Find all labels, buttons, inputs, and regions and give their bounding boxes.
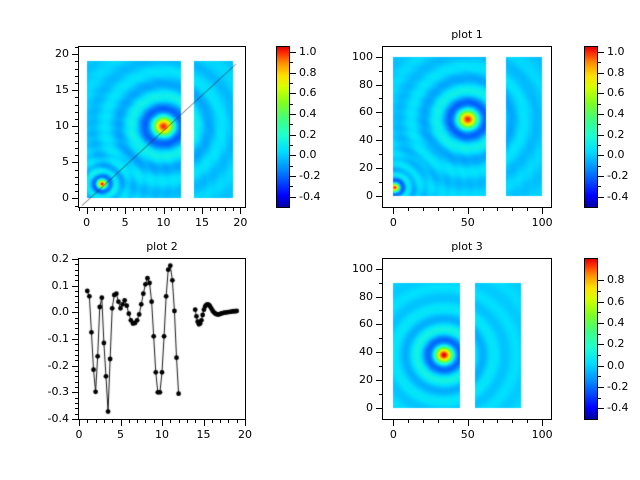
plot-top-left-cbar-tick <box>290 176 296 177</box>
plot-top-left-axes <box>78 46 246 208</box>
plot-top-right-tick <box>379 154 382 155</box>
plot-top-right-cbar-tick-label: 0.6 <box>607 87 640 98</box>
plot-bottom-right-cbar-tick-label: 0.6 <box>607 296 640 307</box>
plot-top-left-tick <box>75 133 78 134</box>
plot-bottom-right-cbar-minor-tick <box>598 398 601 399</box>
plot-top-right-xtick-label: 50 <box>438 217 498 228</box>
plot-top-left-cbar-tick-label: 0.8 <box>299 67 339 78</box>
plot-bottom-right-cbar-tick-label: 0.8 <box>607 274 640 285</box>
plot-top-right-cbar-tick-label: -0.4 <box>607 191 640 202</box>
plot-bottom-right-cbar-tick <box>598 344 604 345</box>
plot-bottom-right-tick <box>393 420 394 426</box>
plot-top-left-tick <box>225 208 226 211</box>
plot-top-right-cbar-minor-tick <box>598 83 601 84</box>
plot-bottom-left-ytick-label: -0.4 <box>9 413 69 424</box>
plot-top-left-cbar-minor-tick <box>290 62 293 63</box>
plot-top-left-tick <box>75 97 78 98</box>
plot-top-right-tick <box>379 98 382 99</box>
plot-bottom-right-tick <box>468 420 469 426</box>
plot-bottom-right-cbar-tick <box>598 302 604 303</box>
plot-top-left-tick <box>72 198 78 199</box>
plot-bottom-left-ytick-label: -0.2 <box>9 360 69 371</box>
plot-bottom-left-tick <box>75 328 78 329</box>
plot-bottom-left-tick <box>75 291 78 292</box>
plot-bottom-right-ytick-label: 40 <box>313 346 373 357</box>
plot-top-right-tick <box>423 208 424 211</box>
plot-top-left-tick <box>72 126 78 127</box>
plot-bottom-right-tick <box>512 420 513 423</box>
plot-bottom-left-tick <box>75 280 78 281</box>
plot-top-right-tick <box>393 208 394 214</box>
figure-canvas: 05101520051015201.00.80.60.40.20.0-0.2-0… <box>0 0 640 480</box>
plot-top-left-cbar-minor-tick <box>290 124 293 125</box>
plot-top-right-tick <box>379 182 382 183</box>
plot-bottom-right-tick <box>379 338 382 339</box>
plot-top-left-tick <box>125 208 126 214</box>
plot-top-right-tick <box>468 208 469 214</box>
plot-bottom-right-tick <box>542 420 543 426</box>
plot-bottom-right-tick <box>453 420 454 423</box>
plot-top-left-tick <box>156 208 157 211</box>
plot-top-left-cbar-tick <box>290 197 296 198</box>
plot-bottom-right-colorbar <box>584 258 598 420</box>
plot-top-left-tick <box>240 208 241 214</box>
plot-bottom-right-xtick-label: 50 <box>438 429 498 440</box>
plot-top-right-xtick-label: 100 <box>512 217 572 228</box>
plot-bottom-left-tick <box>75 355 78 356</box>
plot-bottom-right-tick <box>376 352 382 353</box>
plot-bottom-left-tick <box>75 414 78 415</box>
plot-top-right-cbar-tick <box>598 155 604 156</box>
plot-top-left-tick <box>75 76 78 77</box>
plot-bottom-right-cbar-tick <box>598 408 604 409</box>
plot-bottom-right-ytick-label: 0 <box>313 402 373 413</box>
plot-bottom-left-ytick-label: -0.3 <box>9 386 69 397</box>
plot-bottom-left-tick <box>137 420 138 423</box>
plot-bottom-right-tick <box>379 283 382 284</box>
plot-bottom-right-cbar-minor-tick <box>598 376 601 377</box>
plot-title: plot 3 <box>382 241 552 253</box>
plot-top-left-tick <box>75 61 78 62</box>
plot-bottom-right-tick <box>379 394 382 395</box>
plot-bottom-right-tick <box>376 380 382 381</box>
plot-top-left-ytick-label: 0 <box>9 192 69 203</box>
plot-bottom-right-axes <box>382 258 552 420</box>
plot-bottom-left-tick <box>87 420 88 423</box>
plot-top-right-axes <box>382 46 552 208</box>
plot-title: plot 2 <box>78 241 246 253</box>
plot-top-right-cbar-tick-label: 0.0 <box>607 149 640 160</box>
plot-bottom-left-tick <box>75 371 78 372</box>
plot-bottom-left-tick <box>129 420 130 423</box>
plot-top-right-xtick-label: 0 <box>363 217 423 228</box>
plot-top-left-cbar-minor-tick <box>290 166 293 167</box>
plot-top-left-cbar-minor-tick <box>290 145 293 146</box>
plot-bottom-right-tick <box>483 420 484 423</box>
plot-top-left-tick <box>140 208 141 211</box>
plot-top-left-tick <box>210 208 211 211</box>
plot-bottom-right-cbar-tick-label: 0.2 <box>607 338 640 349</box>
plot-top-right-tick <box>512 208 513 211</box>
plot-top-right-tick <box>376 140 382 141</box>
plot-bottom-left-tick <box>75 408 78 409</box>
plot-bottom-right-tick <box>423 420 424 423</box>
plot-top-left-colorbar-gradient <box>277 47 289 207</box>
plot-top-left-cbar-minor-tick <box>290 83 293 84</box>
plot-bottom-left-tick <box>204 420 205 426</box>
plot-bottom-right-cbar-tick-label: -0.4 <box>607 402 640 413</box>
plot-bottom-right-ytick-label: 60 <box>313 318 373 329</box>
plot-top-right-tick <box>379 71 382 72</box>
plot-top-left-colorbar <box>276 46 290 208</box>
plot-top-left-tick <box>75 83 78 84</box>
plot-top-right-plot-area <box>383 47 551 207</box>
plot-top-right-tick <box>376 196 382 197</box>
plot-top-right-ytick-label: 80 <box>313 79 373 90</box>
plot-top-left-ytick-label: 20 <box>9 48 69 59</box>
plot-bottom-left-tick <box>72 286 78 287</box>
plot-top-left-ytick-label: 15 <box>9 84 69 95</box>
plot-bottom-right-cbar-tick-label: 0.0 <box>607 360 640 371</box>
plot-top-right-ytick-label: 40 <box>313 134 373 145</box>
plot-top-left-cbar-tick <box>290 73 296 74</box>
plot-top-left-tick <box>94 208 95 211</box>
plot-top-right-tick <box>483 208 484 211</box>
plot-top-right-colorbar <box>584 46 598 208</box>
plot-bottom-left-tick <box>75 307 78 308</box>
plot-top-left-tick <box>75 206 78 207</box>
plot-bottom-left-tick <box>75 382 78 383</box>
plot-top-left-tick <box>75 47 78 48</box>
plot-top-left-tick <box>72 54 78 55</box>
plot-top-left-tick <box>75 148 78 149</box>
plot-bottom-right-cbar-minor-tick <box>598 334 601 335</box>
plot-top-right-cbar-tick <box>598 73 604 74</box>
plot-top-right-cbar-tick-label: 0.8 <box>607 67 640 78</box>
plot-bottom-left-tick <box>72 339 78 340</box>
plot-top-right-cbar-minor-tick <box>598 124 601 125</box>
plot-top-left-tick <box>75 119 78 120</box>
plot-top-left-cbar-tick <box>290 93 296 94</box>
plot-top-left-cbar-minor-tick <box>290 186 293 187</box>
plot-top-left-tick <box>75 177 78 178</box>
plot-bottom-left-tick <box>75 387 78 388</box>
plot-bottom-right-cbar-tick <box>598 387 604 388</box>
plot-top-right-ytick-label: 20 <box>313 162 373 173</box>
plot-top-left-tick <box>179 208 180 211</box>
plot-top-left-tick <box>194 208 195 211</box>
plot-top-right-tick <box>527 208 528 211</box>
plot-top-left-plot-area <box>79 47 245 207</box>
plot-top-right-tick <box>376 112 382 113</box>
plot-bottom-left-tick <box>75 376 78 377</box>
plot-bottom-left-tick <box>75 275 78 276</box>
plot-bottom-left-plot-area <box>79 259 245 419</box>
plot-bottom-left-tick <box>72 392 78 393</box>
plot-top-left-tick <box>75 170 78 171</box>
plot-bottom-left-tick <box>145 420 146 423</box>
plot-bottom-left-tick <box>228 420 229 423</box>
plot-top-right-cbar-tick-label: 0.4 <box>607 108 640 119</box>
plot-top-left-tick <box>233 208 234 211</box>
plot-top-right-tick <box>453 208 454 211</box>
plot-bottom-right-colorbar-gradient <box>585 259 597 419</box>
plot-bottom-left-tick <box>75 318 78 319</box>
plot-bottom-left-ytick-label: 0.1 <box>9 280 69 291</box>
plot-title: plot 1 <box>382 29 552 41</box>
plot-top-right-cbar-tick-label: -0.2 <box>607 170 640 181</box>
plot-bottom-left-tick <box>72 312 78 313</box>
plot-top-right-tick <box>497 208 498 211</box>
plot-bottom-right-tick <box>376 408 382 409</box>
plot-top-left-cbar-minor-tick <box>290 104 293 105</box>
plot-bottom-left-ytick-label: -0.1 <box>9 333 69 344</box>
plot-top-right-tick <box>542 208 543 214</box>
plot-top-left-tick <box>75 155 78 156</box>
plot-top-left-tick <box>171 208 172 211</box>
plot-bottom-left-tick <box>75 398 78 399</box>
plot-bottom-right-tick <box>376 297 382 298</box>
plot-bottom-left-tick <box>162 420 163 426</box>
plot-bottom-right-cbar-minor-tick <box>598 291 601 292</box>
plot-bottom-left-tick <box>75 360 78 361</box>
plot-top-left-cbar-tick <box>290 135 296 136</box>
plot-bottom-left-tick <box>237 420 238 423</box>
plot-bottom-right-tick <box>527 420 528 423</box>
plot-top-left-tick <box>75 191 78 192</box>
plot-top-left-tick <box>72 162 78 163</box>
plot-bottom-right-tick <box>379 366 382 367</box>
plot-top-right-cbar-minor-tick <box>598 104 601 105</box>
plot-bottom-right-tick <box>497 420 498 423</box>
plot-bottom-right-cbar-tick <box>598 323 604 324</box>
plot-bottom-left-tick <box>75 323 78 324</box>
plot-top-left-tick <box>75 112 78 113</box>
plot-bottom-left-ytick-label: 0.0 <box>9 306 69 317</box>
plot-bottom-left-tick <box>72 419 78 420</box>
plot-bottom-left-tick <box>79 420 80 426</box>
plot-bottom-right-tick <box>376 269 382 270</box>
plot-bottom-left-tick <box>170 420 171 423</box>
plot-bottom-left-tick <box>212 420 213 423</box>
plot-top-left-tick <box>164 208 165 214</box>
plot-bottom-right-tick <box>379 310 382 311</box>
plot-bottom-left-tick <box>112 420 113 423</box>
plot-bottom-left-tick <box>72 366 78 367</box>
plot-bottom-left-tick <box>104 420 105 423</box>
plot-top-left-cbar-tick <box>290 114 296 115</box>
plot-bottom-left-tick <box>245 420 246 426</box>
plot-bottom-right-xtick-label: 100 <box>512 429 572 440</box>
plot-bottom-left-tick <box>75 350 78 351</box>
plot-top-right-ytick-label: 0 <box>313 190 373 201</box>
plot-top-right-colorbar-gradient <box>585 47 597 207</box>
plot-bottom-left-tick <box>75 403 78 404</box>
plot-bottom-left-ytick-label: 0.2 <box>9 253 69 264</box>
plot-top-right-tick <box>408 208 409 211</box>
plot-top-left-cbar-tick <box>290 52 296 53</box>
plot-top-right-tick <box>376 85 382 86</box>
plot-top-right-tick <box>379 126 382 127</box>
plot-top-right-cbar-tick <box>598 93 604 94</box>
plot-bottom-right-cbar-tick <box>598 366 604 367</box>
plot-top-right-cbar-tick <box>598 52 604 53</box>
plot-top-right-tick <box>376 57 382 58</box>
plot-top-left-cbar-tick <box>290 155 296 156</box>
plot-top-left-tick <box>75 69 78 70</box>
plot-top-right-cbar-minor-tick <box>598 145 601 146</box>
plot-bottom-left-tick <box>75 334 78 335</box>
plot-top-right-cbar-minor-tick <box>598 62 601 63</box>
plot-top-right-cbar-tick-label: 0.2 <box>607 129 640 140</box>
plot-bottom-right-tick <box>408 420 409 423</box>
plot-bottom-right-cbar-minor-tick <box>598 355 601 356</box>
plot-bottom-left-tick <box>72 259 78 260</box>
plot-bottom-left-tick <box>75 264 78 265</box>
plot-bottom-left-tick <box>154 420 155 423</box>
plot-top-right-cbar-tick <box>598 176 604 177</box>
plot-top-right-cbar-minor-tick <box>598 186 601 187</box>
plot-top-left-tick <box>75 105 78 106</box>
plot-top-left-tick <box>148 208 149 211</box>
plot-top-left-tick <box>79 208 80 211</box>
plot-top-right-ytick-label: 60 <box>313 106 373 117</box>
plot-bottom-left-tick <box>75 344 78 345</box>
plot-top-right-cbar-tick-label: 1.0 <box>607 46 640 57</box>
plot-top-left-tick <box>75 141 78 142</box>
plot-bottom-left-xtick-label: 20 <box>215 429 275 440</box>
plot-bottom-left-axes <box>78 258 246 420</box>
plot-bottom-right-tick <box>438 420 439 423</box>
plot-bottom-right-tick <box>376 324 382 325</box>
plot-bottom-left-tick <box>220 420 221 423</box>
plot-top-right-tick <box>376 168 382 169</box>
plot-top-left-ytick-label: 5 <box>9 156 69 167</box>
plot-bottom-left-tick <box>75 296 78 297</box>
plot-top-left-cbar-tick-label: 0.0 <box>299 149 339 160</box>
plot-top-left-tick <box>87 208 88 214</box>
plot-top-left-ytick-label: 10 <box>9 120 69 131</box>
plot-top-right-cbar-tick <box>598 197 604 198</box>
plot-bottom-left-tick <box>75 270 78 271</box>
plot-top-left-tick <box>102 208 103 211</box>
plot-top-right-cbar-tick <box>598 114 604 115</box>
plot-bottom-left-tick <box>75 302 78 303</box>
plot-top-left-tick <box>187 208 188 211</box>
plot-top-right-cbar-tick <box>598 135 604 136</box>
plot-bottom-right-xtick-label: 0 <box>363 429 423 440</box>
plot-bottom-right-ytick-label: 20 <box>313 374 373 385</box>
plot-top-left-tick <box>117 208 118 211</box>
plot-top-left-tick <box>110 208 111 211</box>
plot-top-left-tick <box>217 208 218 211</box>
plot-bottom-left-tick <box>187 420 188 423</box>
plot-bottom-right-cbar-minor-tick <box>598 312 601 313</box>
plot-top-left-tick <box>72 90 78 91</box>
plot-top-right-cbar-minor-tick <box>598 166 601 167</box>
plot-bottom-left-tick <box>96 420 97 423</box>
plot-bottom-left-tick <box>179 420 180 423</box>
plot-bottom-left-tick <box>121 420 122 426</box>
plot-top-left-tick <box>202 208 203 214</box>
plot-bottom-right-cbar-tick <box>598 280 604 281</box>
plot-bottom-right-cbar-tick-label: -0.2 <box>607 381 640 392</box>
plot-bottom-right-ytick-label: 80 <box>313 291 373 302</box>
plot-bottom-right-plot-area <box>383 259 551 419</box>
plot-top-left-tick <box>75 184 78 185</box>
plot-top-left-xtick-label: 20 <box>210 217 270 228</box>
plot-top-right-tick <box>438 208 439 211</box>
plot-bottom-right-ytick-label: 100 <box>313 263 373 274</box>
plot-top-left-tick <box>133 208 134 211</box>
plot-bottom-left-tick <box>195 420 196 423</box>
plot-bottom-right-cbar-tick-label: 0.4 <box>607 317 640 328</box>
plot-top-right-ytick-label: 100 <box>313 51 373 62</box>
